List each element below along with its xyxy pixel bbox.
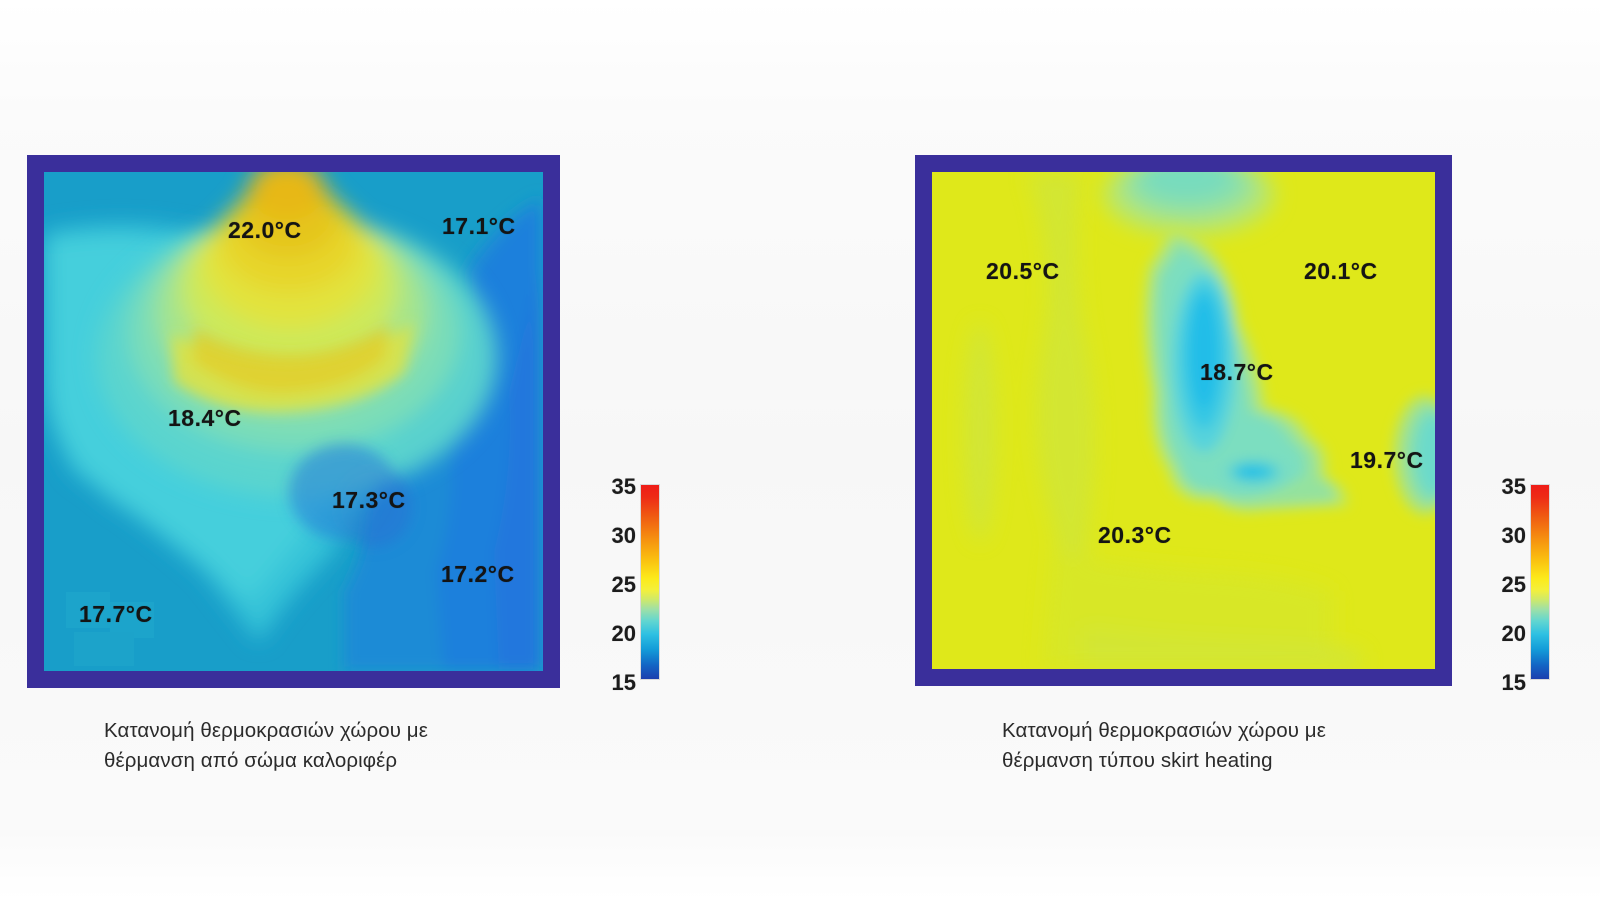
colorbar-tick-25: 25 [600,572,636,598]
radiator-thermal-panel: 22.0°C 17.1°C 18.4°C 17.3°C 17.2°C 17.7°… [27,155,560,688]
colorbar-left-ticks: 35 30 25 20 15 [600,474,636,690]
temp-label-20-1: 20.1°C [1304,258,1378,285]
colorbar-right-ticks: 35 30 25 20 15 [1490,474,1526,690]
colorbar-tick-35: 35 [1490,474,1526,500]
temp-label-17-1: 17.1°C [442,213,516,240]
colorbar-left-gradient [640,484,660,680]
skirt-heating-thermal-panel: 20.5°C 20.1°C 18.7°C 19.7°C 20.3°C [915,155,1452,686]
colorbar-right: 35 30 25 20 15 [1490,484,1550,680]
colorbar-tick-15: 15 [1490,670,1526,696]
colorbar-tick-25: 25 [1490,572,1526,598]
temp-label-17-3: 17.3°C [332,487,406,514]
temp-label-17-2: 17.2°C [441,561,515,588]
temp-label-20-5: 20.5°C [986,258,1060,285]
caption-radiator: Κατανομή θερμοκρασιών χώρου με θέρμανση … [104,716,534,776]
colorbar-tick-30: 30 [600,523,636,549]
figure-page: 22.0°C 17.1°C 18.4°C 17.3°C 17.2°C 17.7°… [0,0,1600,900]
colorbar-tick-30: 30 [1490,523,1526,549]
skirt-heating-heatmap-svg [932,172,1435,669]
temp-label-20-3: 20.3°C [1098,522,1172,549]
colorbar-tick-20: 20 [600,621,636,647]
colorbar-tick-35: 35 [600,474,636,500]
radiator-heatmap-svg [44,172,543,671]
temp-label-18-7: 18.7°C [1200,359,1274,386]
temp-label-18-4: 18.4°C [168,405,242,432]
colorbar-right-gradient [1530,484,1550,680]
colorbar-tick-15: 15 [600,670,636,696]
caption-skirt-heating: Κατανομή θερμοκρασιών χώρου με θέρμανση … [1002,716,1432,776]
colorbar-tick-20: 20 [1490,621,1526,647]
thermal-comparison-figure: 22.0°C 17.1°C 18.4°C 17.3°C 17.2°C 17.7°… [0,0,1600,900]
colorbar-left: 35 30 25 20 15 [600,484,660,680]
radiator-heatmap: 22.0°C 17.1°C 18.4°C 17.3°C 17.2°C 17.7°… [44,172,543,671]
skirt-heating-heatmap: 20.5°C 20.1°C 18.7°C 19.7°C 20.3°C [932,172,1435,669]
temp-label-19-7: 19.7°C [1350,447,1424,474]
temp-label-17-7: 17.7°C [79,601,153,628]
temp-label-22-0: 22.0°C [228,217,302,244]
